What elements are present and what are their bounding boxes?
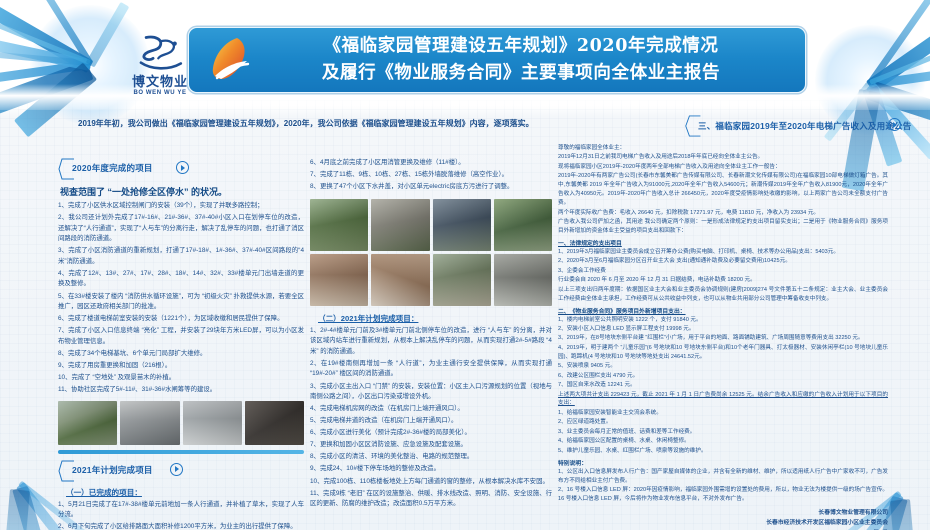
project-photo [371,199,429,251]
title-text-group: 《福临家园管理建设五年规划》2020年完成情况 及履行《物业服务合同》主要事项向… [255,33,805,86]
play-icon[interactable] [170,463,183,476]
left-list-item: 8、完成了34个电梯基坑、6个单元门局部扩大维修。 [58,349,304,360]
right-list-item: 2、应区绿道路处置。 [558,418,888,427]
left-list-item: 6、完成了楼道电梯前室安装的安装（1221个），为区域收缴和居民提供了保障。 [58,314,304,325]
left-list-item: 11、协助社区完成了5#-11#、31#-36#水闸筹等的建设。 [58,385,304,396]
right-list-item: 3、企委会工作经费 [558,267,888,276]
right-section-header: 三、福临家园2019年至2020年电梯广告收入及用途公告 [558,115,888,139]
right-list-item: 3、业主委员会每月正常的值班、话费和差等工作经费。 [558,428,888,437]
project-photo [183,401,242,445]
right-paragraph: 尊敬的福临家园全体业主： [558,144,888,153]
project-photo [310,254,368,306]
project-photo [310,199,368,251]
logo-chinese-name: 博文物业 [132,75,188,89]
plan2021-item-list: 1、5月21日完成了在17#-38#楼单元前地加一条人行通道，并补植了草木，实现… [58,500,304,530]
plan2021-section-label: 2021年计划完成项目 [72,464,153,476]
left-column: 2020年度完成的项目 视查范围了 “一处抢修全区停水” 的状况。 1、完成了小… [58,158,304,530]
right-paragraph-group: 尊敬的福临家园全体业主：2019年12月31日之前我司电梯广告收入及用途后201… [558,144,888,236]
left-section-header: 2020年度完成的项目 [58,158,304,180]
mid-list-item: 6、4月底之前完成了小区用消管更换及维修（11#楼）。 [310,158,552,169]
right-paragraph: 2019年-2020年有两家广告公司(长春市东馨美都广告传媒有限公司、长春新潮文… [558,172,888,208]
right-group1-list: 1、2019年3月福临家园业主委员会成立召开筹办公费(购买电脑、打印机、桌椅、技… [558,248,888,304]
title-line-2: 及履行《物业服务合同》主要事项向全体业主报告 [255,60,787,87]
right-group2-head: 二、《物业服务合同》服务项目外新增项目支出： [558,306,888,315]
right-list-item: 行业委会自 2020 年 6 月至 2020 年 12 月 31 日据结费，电话… [558,276,888,285]
mid-list-item: 4、完成电梯机房网的改造（在机房门上端开通风口）。 [310,404,552,415]
right-group1-head: 一、法律规定的支出项目 [558,238,888,247]
right-list-item: 5、维护儿童乐园、水桌、红围栏广场、喷泉等设施的维护。 [558,447,888,456]
title-banner: 《福临家园管理建设五年规划》2020年完成情况 及履行《物业服务合同》主要事项向… [188,27,806,93]
right-paragraph: 现将福临家园小区2019年-2020年度两年全部电梯广告收入及用途向全体业主工作… [558,163,888,172]
mid-list-item: 7、更换和加固小区区消防设施、应急设施及配套设施。 [310,440,552,451]
left-list-item: 4、完成了12#、13#、27#、17#、28#、18#、14#、32#、33#… [58,269,304,290]
right-paragraph: 广告收入我公司俨加之函，其用途 我公司确定两个原则：一是形成法律规定的支出项目留… [558,218,888,236]
left-section-label: 2020年度完成的项目 [72,162,153,174]
mid-list-item: 8、完成小区的清洁、环境的美化整治、电路的规范整理。 [310,452,552,463]
intro-paragraph: 2019年年初，我公司做出《福临家园管理建设五年规划》，2020年，我公司依据《… [62,118,562,131]
middle-column: 6、4月底之前完成了小区用消管更换及维修（11#楼）。7、完成了11栋、9栋、1… [310,158,552,511]
feather-leaf-icon [203,34,255,86]
left-photo-strip [58,401,304,445]
right-list-item: 1、公区出入口信息屏发布人行广告：国产家屋自媒体的企业，并含有全新的维材、维护，… [558,468,888,486]
left-item-list: 1、完成了小区供水区域控制闸门的安装（39个），实现了并联多路控制；2、我公司还… [58,201,304,396]
signature-line: 长春市经济技术开发区福临家园小区业主委员会 [558,519,888,529]
right-list-item: 2、安装小区入口信息 LED 显示屏工程支付 19998 元。 [558,325,888,334]
project-photo [120,401,179,445]
right-list-item: 以上三项支出归两年度期：依据国区业主大会和业主委员会协调规则(建房[2009]2… [558,286,888,304]
mid-list-item: 11、完成9栋 “老旧” 在区的设施整治、供暖、排水线改造、照明、消防、安全设施… [310,489,552,510]
mid-list-item: 8、更换了47个小区下水井盖，对小区单元electric房底方污进行了调整。 [310,182,552,193]
project-photo [371,254,429,306]
mid-list-item: 10、完成100栋、110栋楼板地处上方每门通道的窗的整修，从根本解决水库不安固… [310,477,552,488]
play-icon[interactable] [888,118,901,131]
right-list-item: 4、2019年，明于建两个 “儿童乐园”(6 号地块和10 号地块东侧平台)和1… [558,344,888,362]
left-list-item: 1、完成了小区供水区域控制闸门的安装（39个），实现了并联多路控制； [58,201,304,212]
right-list-item: 6、改建公区围栏支出 4790 元。 [558,372,888,381]
left-list-item: 3、完成了小区消防通道的重新规划，打通了17#-18#、1#-36#、37#-4… [58,246,304,267]
right-group2-list: 1、楼内电梯前室公共照明安装 1222 个，支付 91840 元。2、安装小区入… [558,316,888,391]
mid-list-item: 6、完成小区进行美化（预计完成2#-36#楼的局部美化）。 [310,428,552,439]
mid-section-label: （二）2021年计划完成项目： [318,313,552,324]
title-line-1: 《福临家园管理建设五年规划》2020年完成情况 [255,33,787,60]
right-list-item: 7、国区自来水改造 12241 元。 [558,381,888,390]
plan2021-section-header: 2021年计划完成项目 [58,460,304,482]
mid-list-item: 2、在19#楼南侧再增加一条 “人行道”，为业主通行安全提供保障，从而实现打通 … [310,359,552,380]
right-list-item: 2、2020年3月至6月福临家园分区召开业主大会 支出(通知通补助费及必要留交费… [558,257,888,266]
right-special-head: 特别说明： [558,458,888,467]
mid-list-item: 1、2#-4#楼单元门前及3#楼单元门前北侧停车位的改造，进行 “人与车” 的分… [310,326,552,358]
project-photo [494,254,552,306]
right-list-item: 1、楼内电梯前室公共照明安装 1222 个，支付 91840 元。 [558,316,888,325]
left-list-item: 7、完成了小区入口信息终端 “亮化” 工程，并安装了29块年方米LED屏，可以为… [58,326,304,347]
left-list-item: 2、我公司还计划外完成了17#-16#、21#-36#、37#-40#小区入口在… [58,213,304,245]
right-special-list: 1、公区出入口信息屏发布人行广告：国产家屋自媒体的企业，并含有全新的维材、维护，… [558,468,888,504]
plan2021-list-item: 1、5月21日完成了在17#-38#楼单元前地加一条人行通道，并补植了草木，实现… [58,500,304,521]
right-plan-list: 1、给福临家园安装智能业主交流会系统。2、应区绿道路处置。3、业主委员会每月正常… [558,409,888,456]
play-icon[interactable] [176,161,189,174]
mid-list-item: 7、完成了11栋、9栋、10栋、27栋、15栋外墙脱落维修（高空作业）。 [310,170,552,181]
project-photo [433,254,491,306]
divider-bar [58,450,304,454]
mid-top-item-list: 6、4月底之前完成了小区用消管更换及维修（11#楼）。7、完成了11栋、9栋、1… [310,158,552,193]
project-photo [494,199,552,251]
right-list-item: 4、给福临家园公区配置的桌椅、水桌、休闲椅整修。 [558,437,888,446]
signature-block: 长春博文物业管理有限公司长春市经济技术开发区福临家园小区业主委员会2021年7月 [558,509,888,530]
right-list-item: 5、安装喷泉 9405 元。 [558,362,888,371]
poster-header: 博文物业 BO WEN WU YE 《福临家园管理建设五年规划》2020年完成情… [0,0,930,112]
right-list-item: 1、2019年3月福临家园业主委员会成立召开筹办公费(购买电脑、打印机、桌椅、技… [558,248,888,257]
project-photo [245,401,304,445]
mid-list-item: 9、完成24、10#楼下停车场地的整修及改造。 [310,464,552,475]
right-paragraph: 两个年度实际收广告费：毛收入 26640 元，扣除税款 17271.97 元，电… [558,209,888,218]
left-list-item: 10、完成了 “空地处” 及观景苗木的补植。 [58,373,304,384]
plan2021-list-item: 2、6月下旬完成了小区给排路面大面积补修1200平方米，为业主的出行提供了保障。 [58,522,304,530]
left-list-item: 9、完成了用房重更换和加固（216根）。 [58,361,304,372]
mid-photo-grid [310,199,552,306]
mid-list-item: 3、完成小区主出入口 “门禁” 的安装，安装位置：小区主入口污源规划的位置（视地… [310,382,552,403]
right-list-item: 1、给福临家园安装智能业主交流会系统。 [558,409,888,418]
signature-line: 长春博文物业管理有限公司 [558,509,888,519]
right-section-label: 三、福临家园2019年至2020年电梯广告收入及用途公告 [698,120,911,132]
logo-english-name: BO WEN WU YE [133,90,186,96]
left-lead-text: 视查范围了 “一处抢修全区停水” 的状况。 [60,185,304,198]
project-photo [58,401,117,445]
mid-bottom-item-list: 1、2#-4#楼单元门前及3#楼单元门前北侧停车位的改造，进行 “人与车” 的分… [310,326,552,510]
left-list-item: 5、在33#楼安装了楼内 “消防供水循环设施”，可为 “初级火灾” 扑救提供水源… [58,292,304,313]
right-summary: 上述两大项共计支出 229423 元，截止 2021 年 1 月 1 日广告费尚… [558,391,888,409]
bowen-calligraphy-mark-icon [134,34,186,74]
right-list-item: 2、16 号楼入口信息 LED 屏：2020年因疫情影响，福临家园外围需增的设置… [558,486,888,504]
mid-list-item: 5、完成电梯井道的改造（在机房门上端开通风口）。 [310,416,552,427]
right-paragraph: 2019年12月31日之前我司电梯广告收入及用途后2018年年底已经向全体业主公… [558,153,888,162]
right-list-item: 3、2019年，在8号地块东侧平台建 “红围栏”小广场，用于平台的地面、路面铺助… [558,334,888,343]
project-photo [433,199,491,251]
right-column: 三、福临家园2019年至2020年电梯广告收入及用途公告 尊敬的福临家园全体业主… [558,115,888,530]
plan2021-sub-head: （一）已完成的项目： [66,487,304,498]
